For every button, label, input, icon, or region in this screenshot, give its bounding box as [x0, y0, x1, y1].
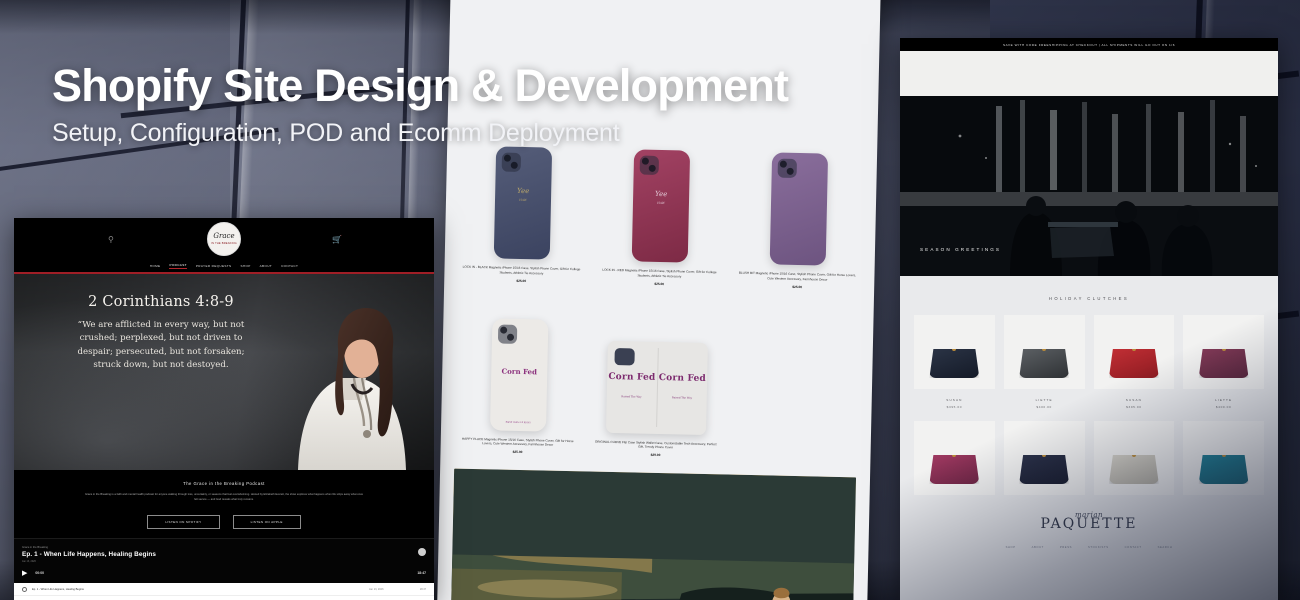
product-card[interactable]: Corn Fed Raised The Way Corn Fed Raised …	[592, 314, 721, 458]
logo-name: Grace	[213, 233, 234, 240]
podcast-buttons: LISTEN ON SPOTIFY LISTEN ON APPLE	[14, 515, 434, 529]
product-image	[1183, 421, 1264, 495]
player-elapsed: 00:00	[35, 571, 44, 575]
product-card[interactable]	[1004, 421, 1085, 495]
hero-season-label: SEASON GREETINGS	[920, 247, 1001, 252]
play-icon[interactable]: ▶	[22, 569, 27, 577]
product-row: YeeHAW LOCK IN - BLACK Magnetic iPhone 1…	[458, 130, 863, 290]
play-icon[interactable]	[22, 587, 27, 592]
audio-player[interactable]: Grace in the Breaking Ep. 1 - When Life …	[14, 538, 434, 583]
clutch-image	[1019, 455, 1069, 484]
cart-icon[interactable]: 🛒	[332, 235, 342, 244]
product-card[interactable]: Corn Fed RAISE THEM UP RIGHT HAPPY PLACE…	[454, 311, 583, 455]
phone-case-image	[770, 152, 828, 265]
player-show-name: Grace in the Breaking	[22, 546, 426, 549]
product-card[interactable]: BLUSH BIT Magnetic iPhone 15/16 Case, St…	[734, 136, 863, 290]
product-image: YeeHAW	[597, 133, 726, 264]
nav-item-about[interactable]: ABOUT	[260, 264, 272, 268]
product-price: $25.00	[596, 280, 722, 287]
flip-right-panel: Corn Fed Raised The Way	[657, 373, 707, 403]
product-card-empty	[730, 317, 859, 461]
listen-spotify-button[interactable]: LISTEN ON SPOTIFY	[147, 515, 219, 529]
product-image	[1183, 315, 1264, 389]
page-subtitle: Setup, Configuration, POD and Ecomm Depl…	[52, 119, 788, 148]
case-artwork: YeeHAW	[495, 186, 551, 203]
site-header: ⚲ Grace IN THE BREAKING 🛒	[14, 218, 434, 260]
hero-section: 2 Corinthians 4:8-9 “We are afflicted in…	[14, 274, 434, 470]
phone-case-image: Corn Fed RAISE THEM UP RIGHT	[490, 318, 548, 431]
footer-link-shop[interactable]: SHOP	[1006, 546, 1016, 549]
product-card[interactable]: SUSAN $395.00	[1094, 315, 1175, 409]
camera-lens-icon	[502, 153, 521, 172]
product-image	[1004, 315, 1085, 389]
player-episode-title: Ep. 1 - When Life Happens, Healing Begin…	[22, 551, 426, 558]
nav-item-home[interactable]: HOME	[150, 264, 161, 268]
product-price: $395.00	[1094, 405, 1175, 409]
case-art-bottom-2: Raised The Way	[672, 396, 692, 399]
brand-logo: marian PAQUETTE	[900, 495, 1278, 538]
podcast-heading: The Grace in the Breaking Podcast	[14, 481, 434, 486]
product-title[interactable]: BLUSH BIT Magnetic iPhone 15/16 Case, St…	[734, 271, 860, 283]
product-row-2	[900, 421, 1278, 495]
product-row-1: SUSAN $395.00 LIETTE $400.00 SUSAN $395.…	[900, 315, 1278, 409]
clutch-image	[929, 349, 979, 378]
nav-item-shop[interactable]: SHOP	[240, 264, 250, 268]
product-image	[1094, 421, 1175, 495]
player-controls[interactable]: ▶ 00:00 18:47	[22, 569, 426, 577]
clutch-image	[1109, 455, 1159, 484]
nav-item-podcast[interactable]: PODCAST	[169, 263, 186, 269]
product-name[interactable]: SUSAN	[914, 398, 995, 402]
product-title[interactable]: ORIGINAL CURVE Flip Case Stylish Wallet …	[593, 439, 719, 451]
episode-length: 18:47	[408, 588, 426, 591]
product-image	[1094, 315, 1175, 389]
player-duration: 18:47	[417, 571, 426, 575]
product-image	[914, 315, 995, 389]
screenshot-podcast-site[interactable]: ⚲ Grace IN THE BREAKING 🛒 HOME PODCAST P…	[14, 218, 434, 600]
logo-tagline: IN THE BREAKING	[211, 242, 237, 245]
verse-text: “We are afflicted in every way, but not …	[76, 319, 246, 372]
product-price: $25.00	[734, 283, 860, 290]
product-name[interactable]: SUSAN	[1094, 398, 1175, 402]
footer-links: SHOP ABOUT PRESS STOCKISTS CONTACT SEARC…	[900, 538, 1278, 549]
camera-lens-icon	[778, 159, 797, 178]
listen-apple-button[interactable]: LISTEN ON APPLE	[233, 515, 301, 529]
brand-name: PAQUETTE	[900, 516, 1278, 532]
clutch-image	[1199, 349, 1249, 378]
episode-list: Ep. 1 - When Life Happens, Healing Begin…	[14, 583, 434, 600]
product-row: Corn Fed RAISE THEM UP RIGHT HAPPY PLACE…	[454, 311, 859, 461]
podcast-blurb: Grace in the Breaking is a faith and men…	[84, 492, 364, 502]
footer-link-press[interactable]: PRESS	[1060, 546, 1072, 549]
hero-model-photo	[292, 292, 410, 470]
clutch-image	[1199, 455, 1249, 484]
screenshot-clutch-store[interactable]: SAVE WITH CODE FREESHIPPING AT CHECKOUT …	[900, 38, 1278, 600]
case-art-top: Corn Fed	[501, 366, 537, 376]
flip-left-panel: Corn Fed Raised The Way	[607, 372, 657, 402]
clutch-image	[1019, 349, 1069, 378]
episode-date: Jan 13, 2026	[369, 588, 403, 591]
product-name[interactable]: LIETTE	[1183, 398, 1264, 402]
product-image: Corn Fed RAISE THEM UP RIGHT	[455, 311, 584, 432]
hero-verse: 2 Corinthians 4:8-9 “We are afflicted in…	[76, 294, 246, 372]
footer-link-about[interactable]: ABOUT	[1032, 546, 1044, 549]
product-image	[1004, 421, 1085, 495]
product-image: YeeHAW	[459, 130, 588, 261]
announcement-bar[interactable]: SAVE WITH CODE FREESHIPPING AT CHECKOUT …	[900, 38, 1278, 51]
camera-lens-icon	[498, 324, 517, 343]
site-nav[interactable]: HOME PODCAST PRAYER REQUESTS SHOP ABOUT …	[14, 260, 434, 272]
product-image	[735, 136, 864, 267]
product-title[interactable]: HAPPY PLACE Magnetic iPhone 15/16 Case, …	[455, 436, 581, 448]
site-header-bar	[900, 51, 1278, 96]
clutch-image	[929, 455, 979, 484]
case-art-top: Corn Fed	[607, 372, 657, 383]
case-art-bottom: Raised The Way	[621, 395, 641, 398]
page-title: Shopify Site Design & Development	[52, 62, 788, 109]
product-title[interactable]: LOCK IN - RED Magnetic iPhone 15/16 Case…	[596, 268, 722, 280]
case-artwork: Corn Fed	[491, 358, 547, 378]
section-title-holiday-clutches: HOLIDAY CLUTCHES	[900, 276, 1278, 315]
verse-reference: 2 Corinthians 4:8-9	[76, 294, 246, 310]
case-art-top-2: Corn Fed	[658, 373, 708, 384]
phone-case-image: YeeHAW	[494, 146, 552, 259]
product-title[interactable]: LOCK IN - BLACK Magnetic iPhone 15/16 Ca…	[458, 265, 584, 277]
lake-scene	[450, 469, 856, 600]
case-artwork: YeeHAW	[633, 189, 689, 206]
hero-banner: SEASON GREETINGS	[900, 96, 1278, 276]
product-card[interactable]: YeeHAW LOCK IN - BLACK Magnetic iPhone 1…	[458, 130, 587, 284]
table-row[interactable]: Ep. 1 - When Life Happens, Healing Begin…	[14, 583, 434, 596]
site-logo[interactable]: Grace IN THE BREAKING	[207, 222, 241, 256]
product-price: $400.00	[1004, 405, 1085, 409]
search-icon[interactable]: ⚲	[108, 235, 114, 244]
footer-link-search[interactable]: SEARCH	[1158, 546, 1173, 549]
table-row[interactable]: Welcome to Grace in the Breaking Elizabe…	[14, 596, 434, 600]
product-card[interactable]: LIETTE $400.00	[1183, 315, 1264, 409]
product-card[interactable]: LIETTE $400.00	[1004, 315, 1085, 409]
footer-link-contact[interactable]: CONTACT	[1125, 546, 1142, 549]
product-price: $395.00	[914, 405, 995, 409]
product-card[interactable]	[1183, 421, 1264, 495]
podcast-intro-section: The Grace in the Breaking Podcast Grace …	[14, 470, 434, 538]
product-card[interactable]: YeeHAW LOCK IN - RED Magnetic iPhone 15/…	[596, 133, 725, 287]
product-price: $25.00	[454, 449, 580, 456]
flip-case-image: Corn Fed Raised The Way Corn Fed Raised …	[606, 340, 708, 434]
product-name[interactable]: LIETTE	[1004, 398, 1085, 402]
case-art-bottom: RAISE THEM UP RIGHT	[490, 421, 546, 424]
product-price: $400.00	[1183, 405, 1264, 409]
product-card[interactable]	[914, 421, 995, 495]
clutch-image	[1109, 349, 1159, 378]
product-card[interactable]: SUSAN $395.00	[914, 315, 995, 409]
product-image	[914, 421, 995, 495]
product-card[interactable]	[1094, 421, 1175, 495]
nav-item-contact[interactable]: CONTACT	[281, 264, 298, 268]
camera-lens-icon	[614, 348, 634, 365]
phone-case-image: YeeHAW	[632, 149, 690, 262]
product-price: $25.00	[458, 277, 584, 284]
lifestyle-photo-lake	[450, 469, 856, 600]
footer-link-stockists[interactable]: STOCKISTS	[1088, 546, 1109, 549]
camera-lens-icon	[640, 156, 659, 175]
episode-title: Ep. 1 - When Life Happens, Healing Begin…	[32, 588, 303, 591]
title-block: Shopify Site Design & Development Setup,…	[52, 62, 788, 148]
nav-item-prayer-requests[interactable]: PRAYER REQUESTS	[196, 264, 232, 268]
product-image: Corn Fed Raised The Way Corn Fed Raised …	[593, 314, 722, 435]
player-date: Jan 13, 2026	[22, 560, 426, 563]
product-price: $29.00	[592, 452, 718, 459]
